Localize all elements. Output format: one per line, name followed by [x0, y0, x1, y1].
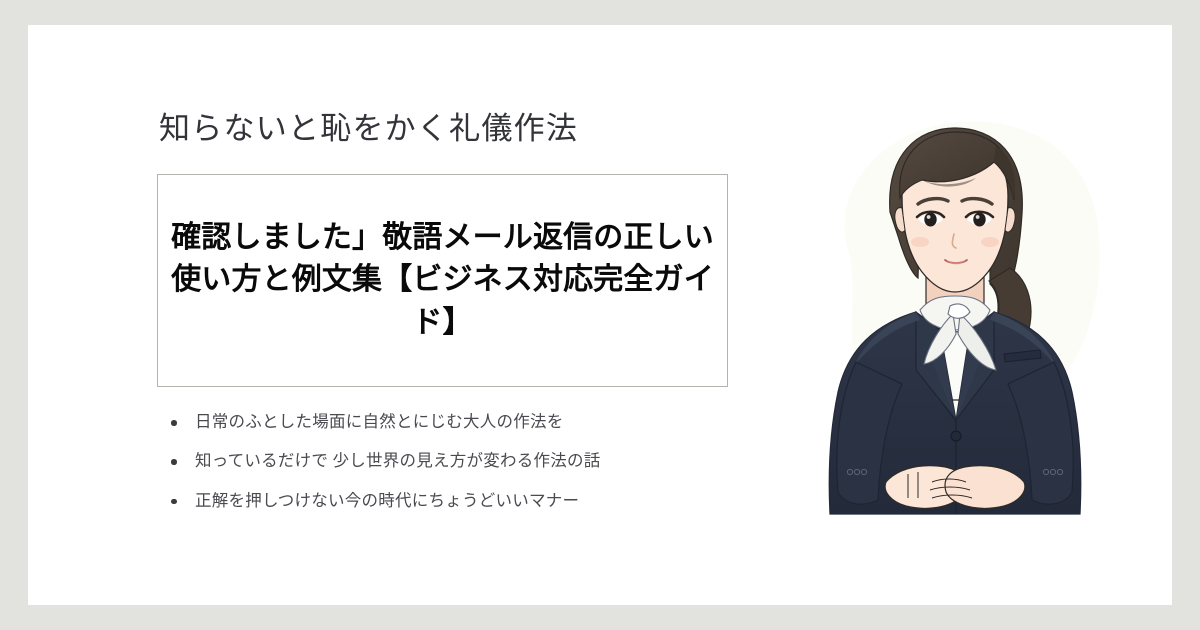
page-title: 確認しました」敬語メール返信の正しい使い方と例文集【ビジネス対応完全ガイド】	[168, 217, 717, 345]
poster-canvas: 知らないと恥をかく礼儀作法 確認しました」敬語メール返信の正しい使い方と例文集【…	[28, 25, 1172, 605]
list-item-label: 知っているだけで 少し世界の見え方が変わる作法の話	[195, 451, 601, 470]
bullet-dot-icon	[171, 420, 177, 426]
hands	[885, 466, 1025, 509]
bullet-dot-icon	[171, 499, 177, 505]
list-item: 正解を押しつけない今の時代にちょうどいいマナー	[171, 490, 757, 512]
kicker-heading: 知らないと恥をかく礼儀作法	[159, 110, 757, 147]
list-item-label: 正解を押しつけない今の時代にちょうどいいマナー	[195, 491, 579, 510]
poster-frame: 知らないと恥をかく礼儀作法 確認しました」敬語メール返信の正しい使い方と例文集【…	[0, 0, 1200, 630]
bullet-dot-icon	[171, 459, 177, 465]
title-box: 確認しました」敬語メール返信の正しい使い方と例文集【ビジネス対応完全ガイド】	[157, 174, 728, 387]
business-woman-illustration	[790, 100, 1120, 530]
list-item: 知っているだけで 少し世界の見え方が変わる作法の話	[171, 450, 757, 472]
list-item-label: 日常のふとした場面に自然とにじむ大人の作法を	[195, 412, 563, 431]
bullet-list: 日常のふとした場面に自然とにじむ大人の作法を 知っているだけで 少し世界の見え方…	[157, 411, 757, 512]
list-item: 日常のふとした場面に自然とにじむ大人の作法を	[171, 411, 757, 433]
text-column: 知らないと恥をかく礼儀作法 確認しました」敬語メール返信の正しい使い方と例文集【…	[157, 110, 757, 512]
